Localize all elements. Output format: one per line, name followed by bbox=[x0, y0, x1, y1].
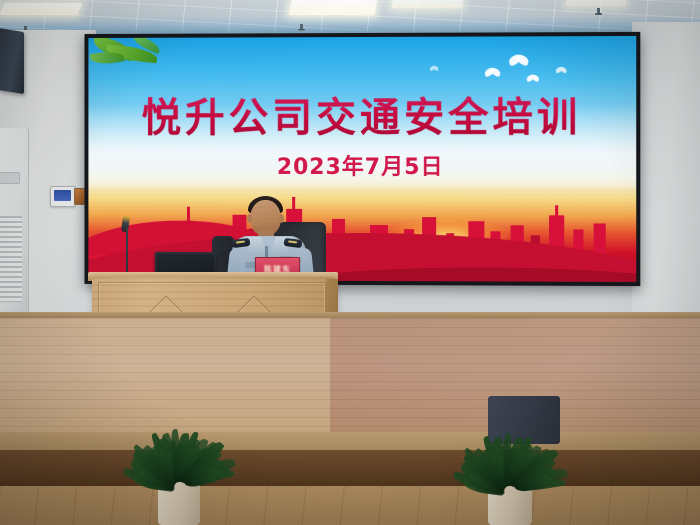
dove-icon bbox=[484, 69, 500, 76]
control-panel-screen bbox=[54, 190, 71, 201]
person-ear bbox=[279, 214, 284, 223]
ceiling-light-panel bbox=[391, 0, 462, 8]
sprinkler-head bbox=[597, 8, 600, 15]
dove-icon bbox=[430, 66, 439, 70]
right-wall bbox=[632, 22, 700, 332]
dove-icon bbox=[556, 67, 567, 72]
photo-scene: 悦升公司交通安全培训 2023年7月5日 陈建东 bbox=[0, 0, 700, 525]
dove-icon bbox=[526, 75, 539, 81]
led-screen-bezel: 悦升公司交通安全培训 2023年7月5日 bbox=[84, 32, 640, 286]
dove-icon bbox=[509, 56, 529, 65]
wall-speaker bbox=[0, 28, 24, 94]
person-ear bbox=[247, 214, 252, 223]
slide-title: 悦升公司交通安全培训 bbox=[88, 84, 636, 143]
ceiling-light-panel bbox=[289, 0, 378, 15]
air-conditioner-unit bbox=[0, 128, 29, 314]
air-conditioner-display bbox=[0, 172, 20, 184]
air-conditioner-vents bbox=[0, 216, 22, 302]
slide-date: 2023年7月5日 bbox=[88, 149, 636, 181]
potted-plant bbox=[96, 368, 276, 525]
led-screen-display: 悦升公司交通安全培训 2023年7月5日 bbox=[88, 36, 636, 282]
ceiling-light-panel bbox=[0, 3, 83, 15]
potted-plant bbox=[428, 378, 608, 525]
ceiling-light-panel bbox=[566, 0, 627, 6]
wall-control-panel[interactable] bbox=[50, 186, 76, 207]
